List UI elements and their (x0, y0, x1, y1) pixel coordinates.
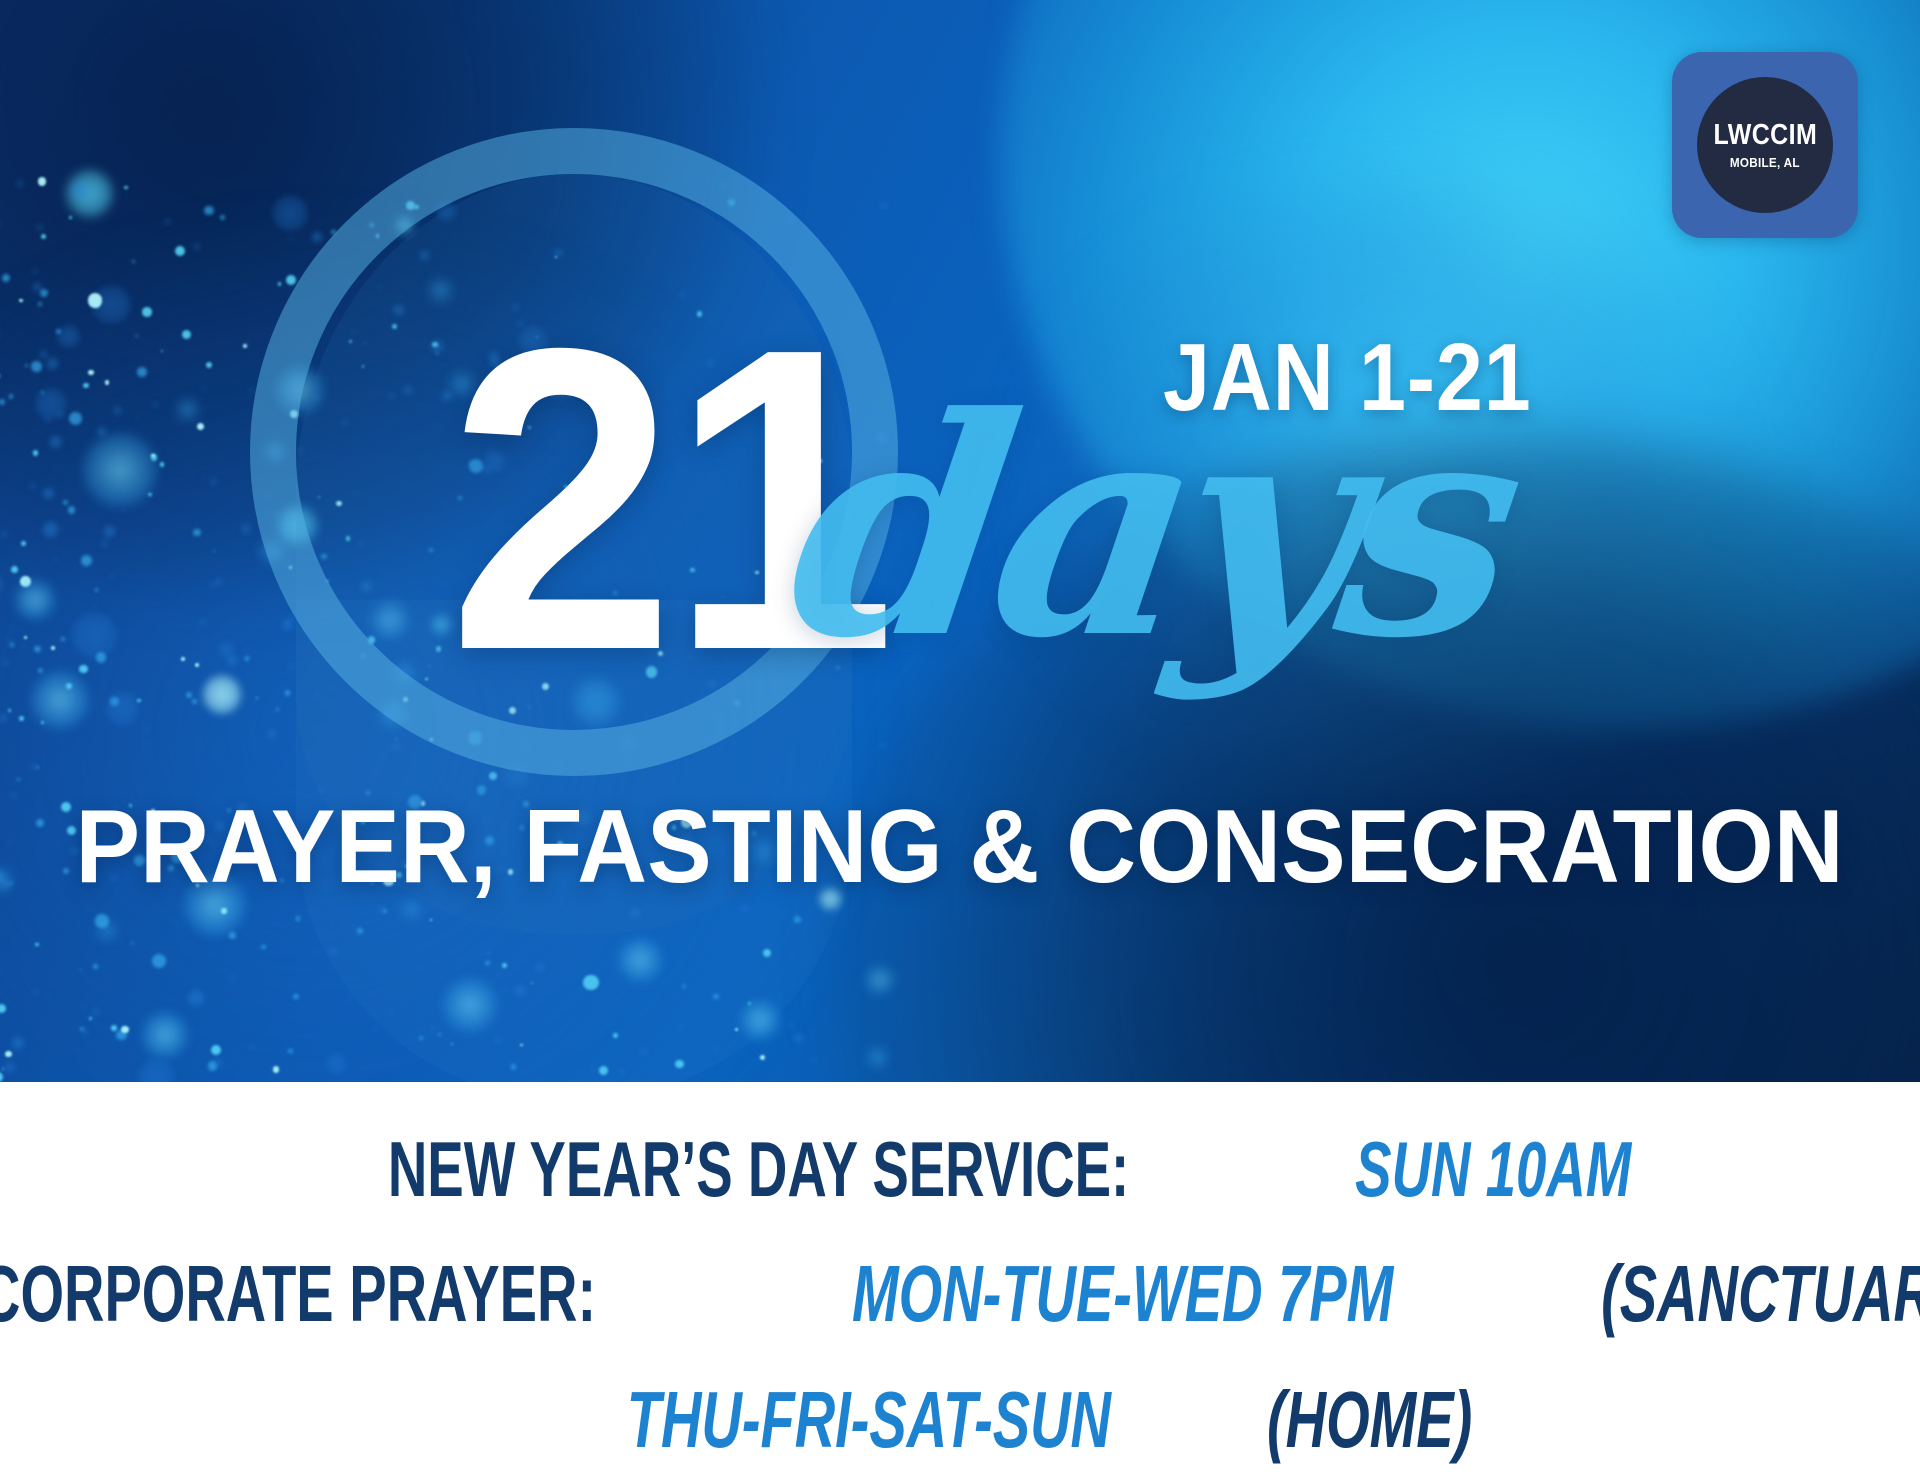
date-range-label: JAN 1-21 (1163, 330, 1532, 426)
logo-city-text: MOBILE, AL (1730, 156, 1800, 169)
logo-circle: LWCCIM MOBILE, AL (1697, 77, 1833, 213)
home-prayer-value: THU-FRI-SAT-SUN (627, 1380, 1111, 1460)
new-years-value: SUN 10AM (1355, 1130, 1631, 1208)
info-panel: NEW YEAR’S DAY SERVICE:SUN 10AM CORPORAT… (0, 1082, 1920, 1484)
corporate-prayer-note: (SANCTUARY) (1601, 1254, 1920, 1334)
home-prayer-note: (HOME) (1267, 1380, 1472, 1460)
logo-badge[interactable]: LWCCIM MOBILE, AL (1672, 52, 1858, 238)
corporate-prayer-value: MON-TUE-WED 7PM (852, 1254, 1393, 1334)
new-years-label: NEW YEAR’S DAY SERVICE: (388, 1130, 1129, 1208)
hero-section: 21 days JAN 1-21 PRAYER, FASTING & CONSE… (0, 0, 1920, 1082)
corporate-prayer-label: CORPORATE PRAYER: (0, 1254, 596, 1334)
hero-subtitle-text: PRAYER, FASTING & CONSECRATION (76, 795, 1844, 899)
flyer-root: 21 days JAN 1-21 PRAYER, FASTING & CONSE… (0, 0, 1920, 1484)
hero-text-group: 21 days JAN 1-21 PRAYER, FASTING & CONSE… (0, 0, 1920, 1082)
info-line-new-years: NEW YEAR’S DAY SERVICE:SUN 10AM (229, 1130, 1691, 1208)
info-line-home-prayer: THU-FRI-SAT-SUN(HOME) (523, 1380, 1516, 1460)
info-line-corporate-prayer: CORPORATE PRAYER:MON-TUE-WED 7PM(SANCTUA… (0, 1254, 1920, 1334)
hero-subtitle: PRAYER, FASTING & CONSECRATION (0, 795, 1920, 899)
logo-name-text: LWCCIM (1713, 121, 1817, 150)
